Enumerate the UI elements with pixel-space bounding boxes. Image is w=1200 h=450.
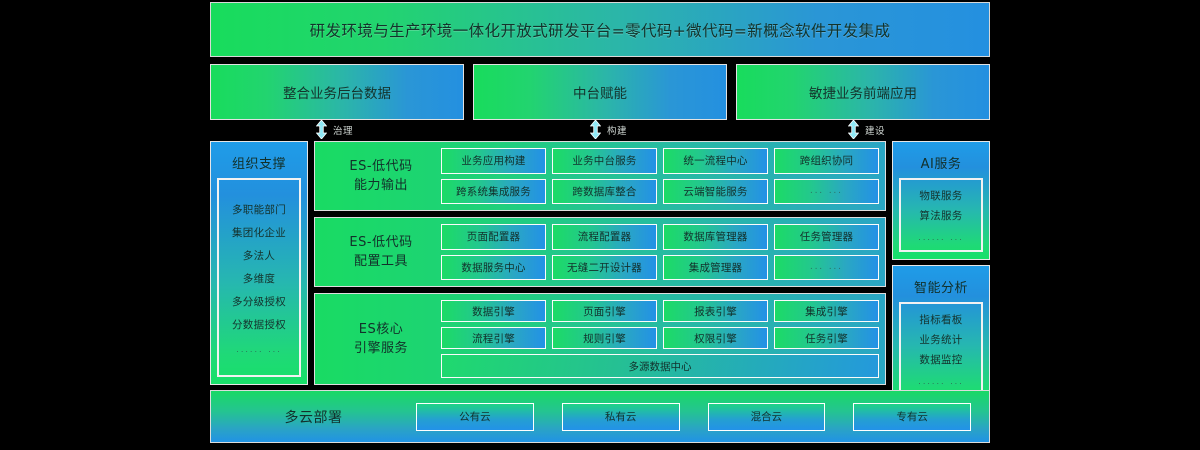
list-item: 多法人 <box>243 248 275 263</box>
panel-title: 智能分析 <box>899 272 983 302</box>
cloud-options: 公有云 私有云 混合云 专有云 <box>416 403 971 431</box>
cloud-public[interactable]: 公有云 <box>416 403 534 431</box>
platform-title-text: 研发环境与生产环境一体化开放式研发平台=零代码+微代码=新概念软件开发集成 <box>310 19 891 41</box>
diagram-stage: 研发环境与生产环境一体化开放式研发平台=零代码+微代码=新概念软件开发集成 整合… <box>210 0 990 450</box>
panel-item-list: 多职能部门 集团化企业 多法人 多维度 多分级授权 分数据授权 ...... .… <box>217 178 301 377</box>
list-more-indicator: ...... ... <box>918 233 963 242</box>
cell-database-manager[interactable]: 数据库管理器 <box>663 224 768 250</box>
cell-label: 权限引擎 <box>694 331 737 346</box>
cell-page-configurator[interactable]: 页面配置器 <box>441 224 546 250</box>
group-lowcode-config-tools: ES-低代码 配置工具 页面配置器 流程配置器 数据库管理器 任务管理器 数据服… <box>314 217 886 287</box>
panel-title: AI服务 <box>899 148 983 178</box>
cell-report-engine[interactable]: 报表引擎 <box>663 300 768 322</box>
panel-item-list: 指标看板 业务统计 数据监控 ...... ... <box>899 302 983 396</box>
list-item: 业务统计 <box>919 332 962 347</box>
group-cell-grid: 数据引擎 页面引擎 报表引擎 集成引擎 流程引擎 规则引擎 权限引擎 任务引擎 <box>441 300 879 378</box>
double-arrow-vertical-icon <box>316 120 327 139</box>
list-more-indicator: ...... ... <box>236 345 281 354</box>
left-sidebar-column: 组织支撑 多职能部门 集团化企业 多法人 多维度 多分级授权 分数据授权 ...… <box>210 141 308 385</box>
connector-label: 治理 <box>333 123 353 137</box>
cell-label: 任务管理器 <box>800 229 854 244</box>
cell-label: 无缝二开设计器 <box>567 260 642 275</box>
cell-label: ... ... <box>810 186 843 196</box>
group-label-line2: 配置工具 <box>354 252 408 272</box>
cell-cross-org-collaboration[interactable]: 跨组织协同 <box>774 148 879 174</box>
top-capability-row: 整合业务后台数据 中台赋能 敏捷业务前端应用 <box>210 64 990 120</box>
cell-page-engine[interactable]: 页面引擎 <box>552 300 657 322</box>
cell-label: 数据引擎 <box>472 304 515 319</box>
top-box-frontend-apps[interactable]: 敏捷业务前端应用 <box>736 64 990 120</box>
list-more-indicator: ...... ... <box>918 377 963 386</box>
double-arrow-vertical-icon <box>848 120 859 139</box>
cell-integration-engine[interactable]: 集成引擎 <box>774 300 879 322</box>
group-label-line1: ES核心 <box>359 320 403 340</box>
group-label: ES-低代码 配置工具 <box>321 224 441 280</box>
group-label: ES-低代码 能力输出 <box>321 148 441 204</box>
cell-label: 多源数据中心 <box>629 359 692 374</box>
connector-label: 建设 <box>865 123 885 137</box>
cell-task-manager[interactable]: 任务管理器 <box>774 224 879 250</box>
cell-process-engine[interactable]: 流程引擎 <box>441 327 546 349</box>
cell-process-configurator[interactable]: 流程配置器 <box>552 224 657 250</box>
cloud-label: 专有云 <box>896 409 928 424</box>
grid-row: 跨系统集成服务 跨数据库整合 云端智能服务 ... ... <box>441 179 879 205</box>
cell-label: 任务引擎 <box>805 331 848 346</box>
grid-row: 数据引擎 页面引擎 报表引擎 集成引擎 <box>441 300 879 322</box>
list-item: 指标看板 <box>919 312 962 327</box>
diagram-root: 研发环境与生产环境一体化开放式研发平台=零代码+微代码=新概念软件开发集成 整合… <box>0 0 1200 450</box>
cloud-label: 公有云 <box>459 409 491 424</box>
grid-row: 业务应用构建 业务中台服务 统一流程中心 跨组织协同 <box>441 148 879 174</box>
list-item: 分数据授权 <box>232 317 286 332</box>
cell-label: 统一流程中心 <box>683 153 747 168</box>
cell-integration-manager[interactable]: 集成管理器 <box>663 255 768 281</box>
cell-label: 集成管理器 <box>689 260 743 275</box>
group-label-line2: 能力输出 <box>354 176 408 196</box>
main-architecture-band: 组织支撑 多职能部门 集团化企业 多法人 多维度 多分级授权 分数据授权 ...… <box>210 141 990 385</box>
cell-label: 跨组织协同 <box>800 153 854 168</box>
top-box-label: 敏捷业务前端应用 <box>809 82 917 102</box>
group-label: ES核心 引擎服务 <box>321 300 441 378</box>
cell-label: ... ... <box>810 262 843 272</box>
cell-multisource-data-center[interactable]: 多源数据中心 <box>441 354 879 378</box>
list-item: 多职能部门 <box>232 202 286 217</box>
panel-ai-service[interactable]: AI服务 物联服务 算法服务 ...... ... <box>892 141 990 260</box>
cell-cross-db-consolidation[interactable]: 跨数据库整合 <box>552 179 657 205</box>
grid-row: 页面配置器 流程配置器 数据库管理器 任务管理器 <box>441 224 879 250</box>
cloud-hybrid[interactable]: 混合云 <box>708 403 826 431</box>
center-column: ES-低代码 能力输出 业务应用构建 业务中台服务 统一流程中心 跨组织协同 跨… <box>314 141 886 385</box>
grid-row: 数据服务中心 无缝二开设计器 集成管理器 ... ... <box>441 255 879 281</box>
cell-label: 数据库管理器 <box>683 229 747 244</box>
list-item: 物联服务 <box>919 188 962 203</box>
connector-label: 构建 <box>607 123 627 137</box>
list-item: 多分级授权 <box>232 294 286 309</box>
cell-task-engine[interactable]: 任务引擎 <box>774 327 879 349</box>
group-lowcode-capability: ES-低代码 能力输出 业务应用构建 业务中台服务 统一流程中心 跨组织协同 跨… <box>314 141 886 211</box>
cell-label: 集成引擎 <box>805 304 848 319</box>
cell-label: 流程配置器 <box>578 229 632 244</box>
connector-governance: 治理 <box>316 120 353 139</box>
cell-rule-engine[interactable]: 规则引擎 <box>552 327 657 349</box>
group-label-line1: ES-低代码 <box>349 157 412 177</box>
cell-label: 页面配置器 <box>467 229 521 244</box>
list-item: 集团化企业 <box>232 225 286 240</box>
double-arrow-vertical-icon <box>590 120 601 139</box>
cell-label: 跨系统集成服务 <box>456 184 531 199</box>
cell-more-indicator[interactable]: ... ... <box>774 255 879 281</box>
top-box-midplatform[interactable]: 中台赋能 <box>473 64 727 120</box>
group-cell-grid: 业务应用构建 业务中台服务 统一流程中心 跨组织协同 跨系统集成服务 跨数据库整… <box>441 148 879 204</box>
panel-intelligent-analysis[interactable]: 智能分析 指标看板 业务统计 数据监控 ...... ... <box>892 265 990 404</box>
panel-item-list: 物联服务 算法服务 ...... ... <box>899 178 983 252</box>
cell-business-app-build[interactable]: 业务应用构建 <box>441 148 546 174</box>
panel-title: 组织支撑 <box>217 148 301 178</box>
connector-build: 构建 <box>590 120 627 139</box>
cell-permission-engine[interactable]: 权限引擎 <box>663 327 768 349</box>
list-item: 数据监控 <box>919 352 962 367</box>
multicloud-label: 多云部署 <box>211 407 416 427</box>
top-box-label: 中台赋能 <box>573 82 627 102</box>
right-sidebar-column: AI服务 物联服务 算法服务 ...... ... 智能分析 指标看板 业务统计… <box>892 141 990 385</box>
platform-title-bar: 研发环境与生产环境一体化开放式研发平台=零代码+微代码=新概念软件开发集成 <box>210 2 990 57</box>
connector-strip: 治理 构建 建设 <box>210 120 990 140</box>
cloud-dedicated[interactable]: 专有云 <box>853 403 971 431</box>
cell-unified-process-center[interactable]: 统一流程中心 <box>663 148 768 174</box>
cloud-label: 私有云 <box>605 409 637 424</box>
group-label-line2: 引擎服务 <box>354 339 408 359</box>
multicloud-deployment-bar: 多云部署 公有云 私有云 混合云 专有云 <box>210 390 990 443</box>
top-box-label: 整合业务后台数据 <box>283 82 391 102</box>
cloud-private[interactable]: 私有云 <box>562 403 680 431</box>
cell-seamless-secondary-dev-designer[interactable]: 无缝二开设计器 <box>552 255 657 281</box>
top-box-backend-data[interactable]: 整合业务后台数据 <box>210 64 464 120</box>
cell-label: 云端智能服务 <box>683 184 747 199</box>
cell-business-midplatform-service[interactable]: 业务中台服务 <box>552 148 657 174</box>
group-label-line1: ES-低代码 <box>349 233 412 253</box>
list-item: 多维度 <box>243 271 275 286</box>
list-item: 算法服务 <box>919 208 962 223</box>
group-cell-grid: 页面配置器 流程配置器 数据库管理器 任务管理器 数据服务中心 无缝二开设计器 … <box>441 224 879 280</box>
cell-data-engine[interactable]: 数据引擎 <box>441 300 546 322</box>
cell-cross-system-integration[interactable]: 跨系统集成服务 <box>441 179 546 205</box>
connector-construction: 建设 <box>848 120 885 139</box>
cell-label: 业务中台服务 <box>572 153 636 168</box>
cell-label: 跨数据库整合 <box>572 184 636 199</box>
cell-more-indicator[interactable]: ... ... <box>774 179 879 205</box>
cell-data-service-center[interactable]: 数据服务中心 <box>441 255 546 281</box>
panel-organization-support[interactable]: 组织支撑 多职能部门 集团化企业 多法人 多维度 多分级授权 分数据授权 ...… <box>210 141 308 385</box>
cell-cloud-ai-service[interactable]: 云端智能服务 <box>663 179 768 205</box>
cell-label: 页面引擎 <box>583 304 626 319</box>
cell-label: 数据服务中心 <box>461 260 525 275</box>
cell-label: 规则引擎 <box>583 331 626 346</box>
cloud-label: 混合云 <box>751 409 783 424</box>
group-core-engine-services: ES核心 引擎服务 数据引擎 页面引擎 报表引擎 集成引擎 流程引擎 规则引擎 <box>314 293 886 385</box>
cell-label: 流程引擎 <box>472 331 515 346</box>
grid-row: 流程引擎 规则引擎 权限引擎 任务引擎 <box>441 327 879 349</box>
cell-label: 报表引擎 <box>694 304 737 319</box>
cell-label: 业务应用构建 <box>461 153 525 168</box>
